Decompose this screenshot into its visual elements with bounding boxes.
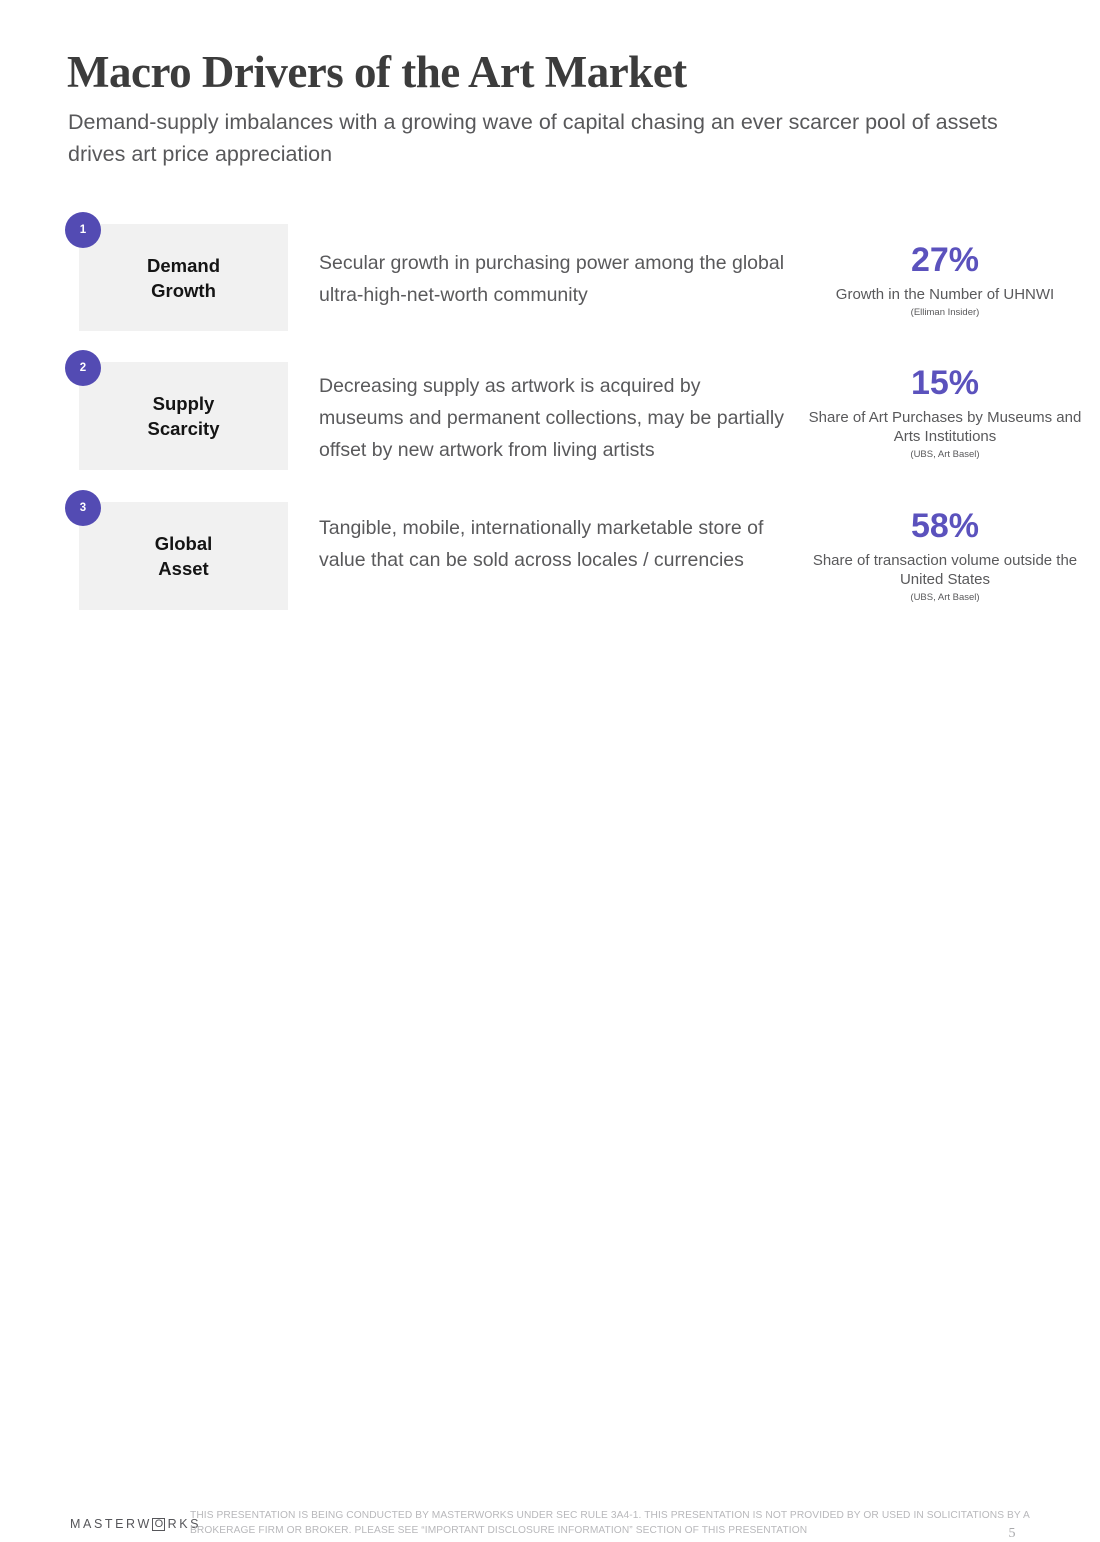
driver-label-box: Demand Growth xyxy=(79,224,288,331)
driver-number-badge: 3 xyxy=(65,490,101,526)
masterworks-logo: MASTERWORKS xyxy=(70,1517,201,1531)
stat-value: 27% xyxy=(800,240,1090,280)
driver-label-text: Supply Scarcity xyxy=(148,391,220,441)
driver-description: Tangible, mobile, internationally market… xyxy=(319,512,789,576)
driver-description: Decreasing supply as artwork is acquired… xyxy=(319,370,789,466)
driver-row: 3 Global Asset Tangible, mobile, interna… xyxy=(0,490,1100,620)
driver-row: 2 Supply Scarcity Decreasing supply as a… xyxy=(0,350,1100,480)
footer-disclaimer: THIS PRESENTATION IS BEING CONDUCTED BY … xyxy=(190,1508,1082,1538)
logo-boxed-o-icon: O xyxy=(152,1518,165,1531)
driver-stat: 27% Growth in the Number of UHNWI (Ellim… xyxy=(800,240,1090,319)
driver-label-text: Global Asset xyxy=(155,531,213,581)
stat-source: (UBS, Art Basel) xyxy=(800,591,1090,604)
driver-label-box: Supply Scarcity xyxy=(79,362,288,470)
stat-caption: Growth in the Number of UHNWI xyxy=(800,285,1090,304)
stat-source: (UBS, Art Basel) xyxy=(800,448,1090,461)
driver-number-badge: 2 xyxy=(65,350,101,386)
driver-stat: 58% Share of transaction volume outside … xyxy=(800,506,1090,604)
driver-row: 1 Demand Growth Secular growth in purcha… xyxy=(0,212,1100,342)
page-title: Macro Drivers of the Art Market xyxy=(67,46,687,98)
stat-caption: Share of transaction volume outside the … xyxy=(800,551,1090,589)
stat-value: 58% xyxy=(800,506,1090,546)
stat-caption: Share of Art Purchases by Museums and Ar… xyxy=(800,408,1090,446)
page-number: 5 xyxy=(1000,1526,1024,1542)
driver-description: Secular growth in purchasing power among… xyxy=(319,247,789,311)
driver-label-box: Global Asset xyxy=(79,502,288,610)
driver-number-badge: 1 xyxy=(65,212,101,248)
stat-source: (Elliman Insider) xyxy=(800,306,1090,319)
logo-prefix: MASTERW xyxy=(70,1517,152,1531)
driver-label-text: Demand Growth xyxy=(147,253,220,303)
page-subtitle: Demand-supply imbalances with a growing … xyxy=(68,106,1053,170)
driver-stat: 15% Share of Art Purchases by Museums an… xyxy=(800,363,1090,461)
stat-value: 15% xyxy=(800,363,1090,403)
footer: MASTERWORKS THIS PRESENTATION IS BEING C… xyxy=(0,745,1100,825)
